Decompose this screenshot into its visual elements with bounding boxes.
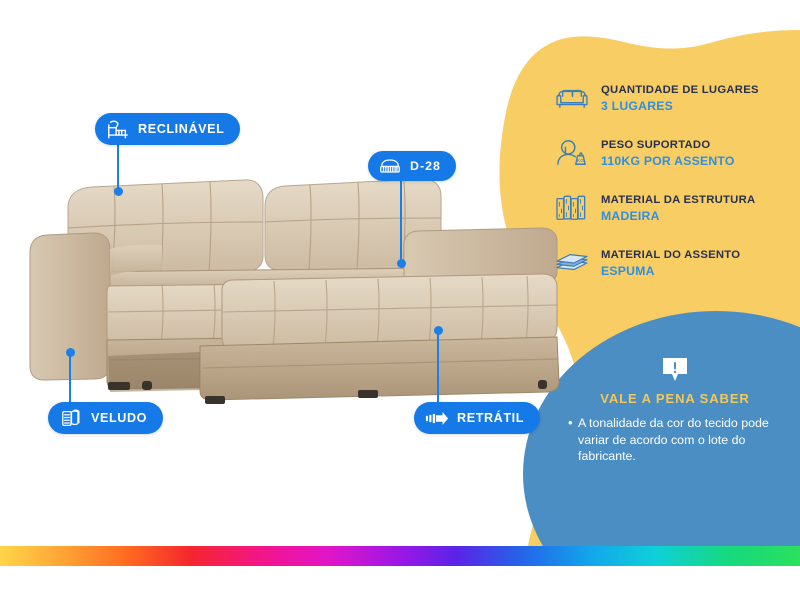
leader-dot-d28 xyxy=(397,259,406,268)
note-body: A tonalidade da cor do tecido pode varia… xyxy=(566,415,784,465)
spec-value: 3 LUGARES xyxy=(601,99,759,114)
spec-label: MATERIAL DO ASSENTO xyxy=(601,249,740,261)
badge-label: RETRÁTIL xyxy=(457,411,524,425)
sofa-product-image xyxy=(22,160,567,410)
spec-row-weight: KG PESO SUPORTADO 110KG POR ASSENTO xyxy=(552,133,798,173)
spec-text: MATERIAL DA ESTRUTURA MADEIRA xyxy=(601,188,755,224)
spec-text: PESO SUPORTADO 110KG POR ASSENTO xyxy=(601,133,735,169)
spec-row-seat-material: MATERIAL DO ASSENTO ESPUMA xyxy=(552,243,798,283)
badge-d28[interactable]: D-28 xyxy=(368,151,456,181)
recliner-icon xyxy=(106,118,130,140)
spec-row-seats: QUANTIDADE DE LUGARES 3 LUGARES xyxy=(552,78,798,118)
badge-veludo[interactable]: VELUDO xyxy=(48,402,163,434)
spec-value: 110KG POR ASSENTO xyxy=(601,154,735,169)
spec-label: MATERIAL DA ESTRUTURA xyxy=(601,194,755,206)
alert-bubble-icon xyxy=(660,356,690,384)
weight-person-icon: KG xyxy=(552,133,592,173)
badge-label: D-28 xyxy=(410,159,441,173)
rainbow-divider xyxy=(0,546,800,566)
infographic-canvas: RECLINÁVEL D-28 VELUDO xyxy=(0,0,800,600)
slide-arrow-icon xyxy=(425,407,449,429)
badge-label: RECLINÁVEL xyxy=(138,122,224,136)
wood-planks-icon xyxy=(552,188,592,228)
leader-line-retratil xyxy=(437,330,439,402)
leader-line-veludo xyxy=(69,352,71,402)
spec-row-structure: MATERIAL DA ESTRUTURA MADEIRA xyxy=(552,188,798,228)
foam-density-icon xyxy=(378,155,402,177)
spec-text: QUANTIDADE DE LUGARES 3 LUGARES xyxy=(601,78,759,114)
note-title: VALE A PENA SABER xyxy=(566,391,784,406)
leader-line-reclinavel xyxy=(117,145,119,191)
leader-dot-veludo xyxy=(66,348,75,357)
foam-layers-icon xyxy=(552,243,592,283)
sofa-icon xyxy=(552,78,592,118)
spec-value: ESPUMA xyxy=(601,264,740,279)
badge-retratil[interactable]: RETRÁTIL xyxy=(414,402,540,434)
spec-text: MATERIAL DO ASSENTO ESPUMA xyxy=(601,243,740,279)
spec-label: PESO SUPORTADO xyxy=(601,139,710,151)
note-card: VALE A PENA SABER A tonalidade da cor do… xyxy=(566,356,784,465)
specifications-list: QUANTIDADE DE LUGARES 3 LUGARES KG PESO … xyxy=(552,78,798,298)
spec-value: MADEIRA xyxy=(601,209,755,224)
badge-label: VELUDO xyxy=(91,411,147,425)
svg-text:KG: KG xyxy=(577,158,584,164)
spec-label: QUANTIDADE DE LUGARES xyxy=(601,84,759,96)
fabric-swatch-icon xyxy=(59,407,83,429)
leader-dot-retratil xyxy=(434,326,443,335)
badge-reclinavel[interactable]: RECLINÁVEL xyxy=(95,113,240,145)
leader-line-d28 xyxy=(400,181,402,263)
leader-dot-reclinavel xyxy=(114,187,123,196)
